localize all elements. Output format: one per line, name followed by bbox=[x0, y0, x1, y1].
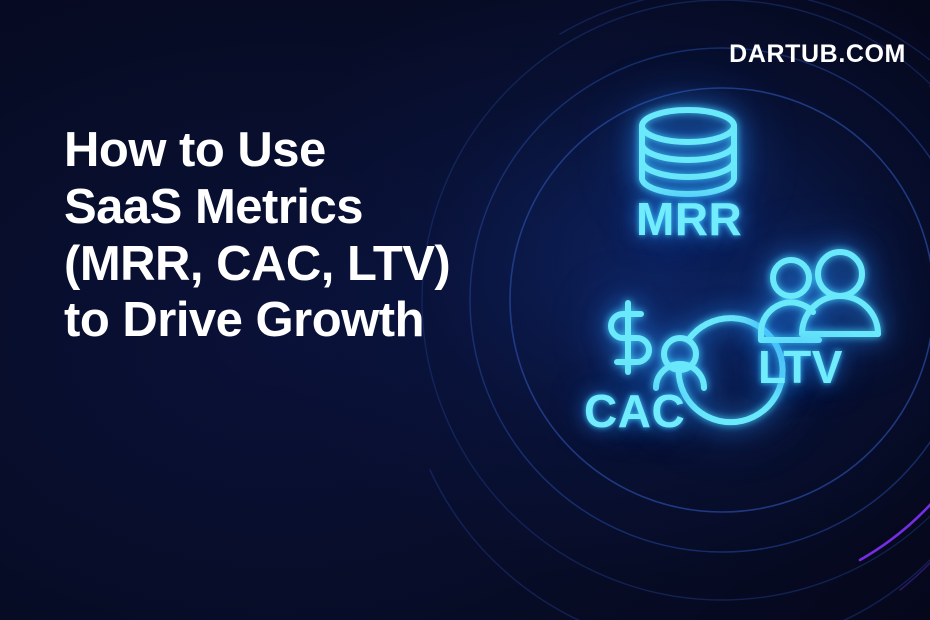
two-people-icon bbox=[757, 252, 885, 348]
ring-purple-arc-faint bbox=[900, 86, 930, 590]
db-divider-1 bbox=[642, 144, 734, 160]
db-bottom-arc bbox=[642, 178, 734, 194]
metric-label-cac: CAC bbox=[584, 388, 685, 434]
brand-logo: DARTUB.COM bbox=[729, 42, 906, 67]
metric-item-mrr: MRR bbox=[628, 104, 748, 200]
person-front-body bbox=[802, 296, 878, 334]
page-title: How to Use SaaS Metrics (MRR, CAC, LTV) … bbox=[64, 122, 514, 349]
db-divider-2 bbox=[642, 161, 734, 177]
metric-item-cac: CAC bbox=[583, 276, 723, 394]
person-back-head bbox=[773, 260, 809, 296]
dollar-circle-person-icon bbox=[583, 276, 723, 394]
ring-arc-bottom bbox=[430, 470, 930, 620]
metric-label-ltv: LTV bbox=[758, 344, 843, 390]
db-top-ellipse bbox=[642, 110, 734, 142]
database-stack-icon bbox=[628, 104, 748, 200]
metric-label-mrr: MRR bbox=[636, 196, 742, 242]
person-front-head bbox=[818, 252, 862, 296]
thumbnail-canvas: DARTUB.COM How to Use SaaS Metrics (MRR,… bbox=[0, 0, 930, 620]
metric-item-ltv: LTV bbox=[757, 252, 885, 348]
